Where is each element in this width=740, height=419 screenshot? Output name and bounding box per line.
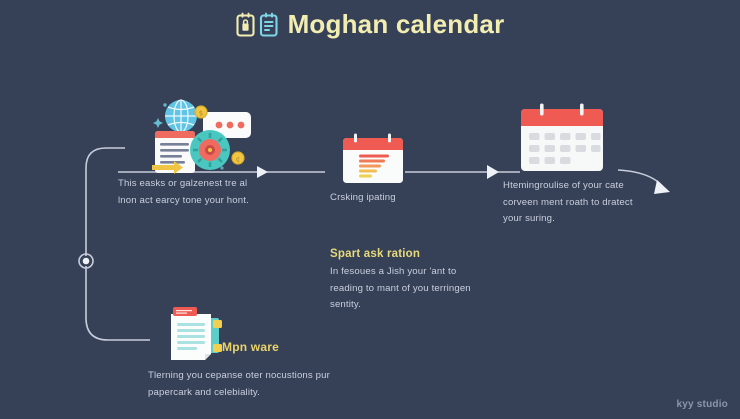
node-calendar-grid-block: Htemingroulise of your cate corveen ment…: [503, 178, 645, 228]
node-mpn-ware-heading-block: Mpn ware: [222, 340, 342, 358]
svg-text:¢: ¢: [236, 156, 240, 164]
infographic-canvas: Moghan calendar: [0, 0, 740, 419]
calendar-grid-icon: [519, 103, 605, 175]
node-calendar-grid-body: Htemingroulise of your cate corveen ment…: [503, 178, 645, 228]
node-spart-ask-heading: Spart ask ration: [330, 248, 478, 260]
node-calendar-list-block: Crsking ipating: [330, 190, 460, 207]
node-spart-ask-body: In fesoues a Jish your 'ant to reading t…: [330, 264, 478, 314]
timeline-start-dot-core: [83, 258, 90, 265]
node-calendar-list-body: Crsking ipating: [330, 190, 460, 207]
arrow-curve-end: [654, 180, 670, 194]
svg-text:$: $: [199, 110, 203, 118]
node-mpn-ware-block: Tlerning you cepanse oter nocustions pur…: [148, 368, 348, 401]
arrow-right-2: [487, 165, 499, 179]
node-global-communication-block: This easks or galzenest tre al lnon act …: [118, 176, 268, 209]
watermark: kyy studio: [677, 399, 728, 410]
node-spart-ask-block: Spart ask ration In fesoues a Jish your …: [330, 248, 478, 314]
node-mpn-ware-body: Tlerning you cepanse oter nocustions pur…: [148, 368, 348, 401]
node-global-communication-body: This easks or galzenest tre al lnon act …: [118, 176, 268, 209]
globe-chat-gear-icon: $ ¢: [146, 88, 254, 176]
calendar-list-icon: [341, 133, 405, 185]
node-mpn-ware-heading: Mpn ware: [222, 340, 342, 354]
